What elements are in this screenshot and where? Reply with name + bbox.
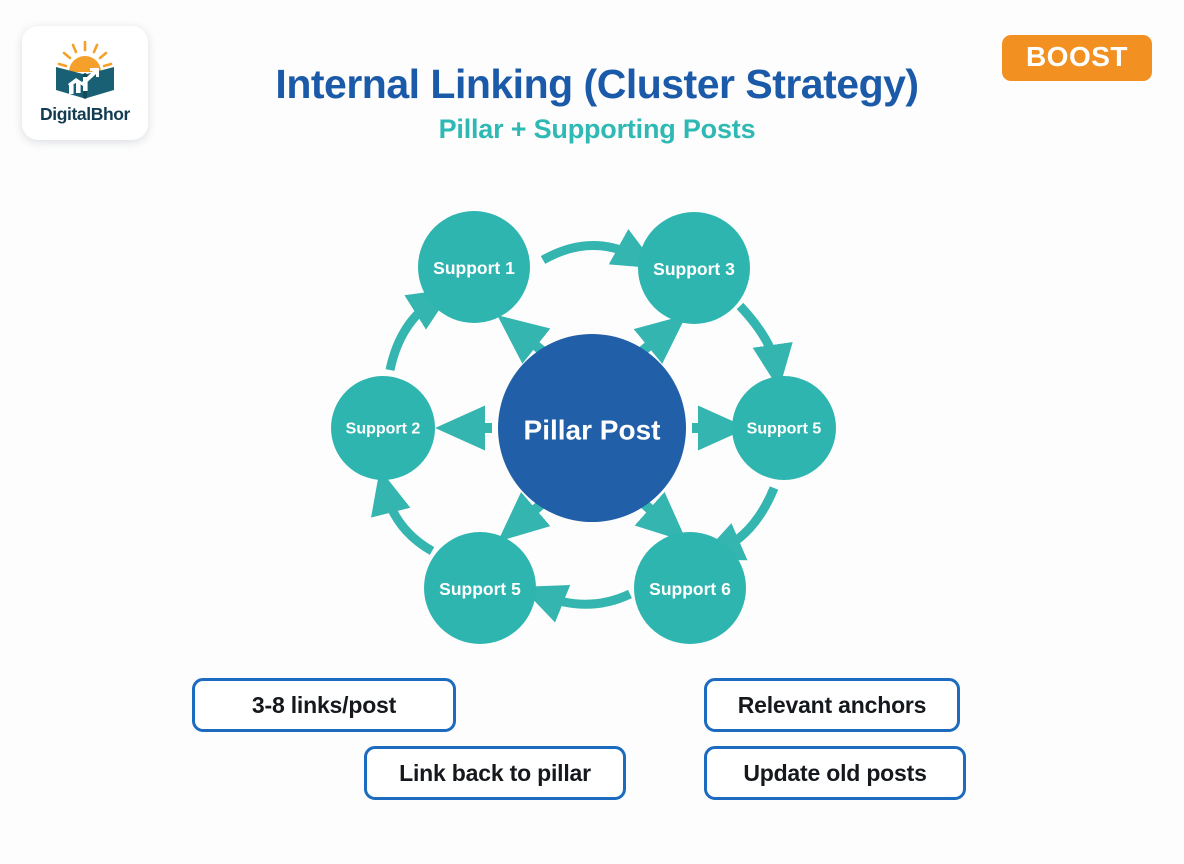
ring-arc-support1-to-support3 (543, 245, 639, 260)
tip-box-update-old-posts: Update old posts (704, 746, 966, 800)
boost-badge: BOOST (1002, 35, 1152, 81)
support-node-1[interactable]: Support 1 (418, 211, 530, 323)
support-node-1-label: Support 1 (433, 258, 515, 278)
pillar-post-hub-label: Pillar Post (524, 415, 661, 446)
ring-arc-support5right-to-support6 (718, 488, 774, 551)
support-node-5-right[interactable]: Support 5 (732, 376, 836, 480)
tip-box-relevant-anchors: Relevant anchors (704, 678, 960, 732)
radial-arrow-to-support6 (642, 502, 669, 526)
ring-arc-support2-to-support1 (390, 300, 435, 370)
page-subtitle: Pillar + Supporting Posts (0, 114, 1184, 145)
ring-arc-support3-to-support5right (740, 306, 776, 368)
support-node-6[interactable]: Support 6 (634, 532, 746, 644)
support-node-5-bottom-label: Support 5 (439, 579, 521, 599)
cluster-diagram: Support 1 Support 3 Support 5 Support 6 … (300, 190, 880, 670)
tip-box-links-per-post: 3-8 links/post (192, 678, 456, 732)
ring-arc-support6-to-support5bottom (541, 594, 630, 604)
book-sun-chart-icon (52, 41, 118, 101)
support-node-2[interactable]: Support 2 (331, 376, 435, 480)
support-node-6-label: Support 6 (649, 579, 731, 599)
tip-box-link-back-to-pillar: Link back to pillar (364, 746, 626, 800)
support-node-3[interactable]: Support 3 (638, 212, 750, 324)
brand-wordmark: DigitalBhor (40, 104, 130, 125)
radial-arrow-to-support3 (640, 330, 668, 353)
pillar-post-hub[interactable]: Pillar Post (498, 334, 686, 522)
support-node-5-right-label: Support 5 (747, 421, 822, 438)
support-node-2-label: Support 2 (346, 421, 421, 438)
support-node-5-bottom[interactable]: Support 5 (424, 532, 536, 644)
ring-arc-support5bottom-to-support2 (385, 490, 432, 551)
support-node-3-label: Support 3 (653, 259, 735, 279)
brand-logo-card: DigitalBhor (22, 26, 148, 140)
